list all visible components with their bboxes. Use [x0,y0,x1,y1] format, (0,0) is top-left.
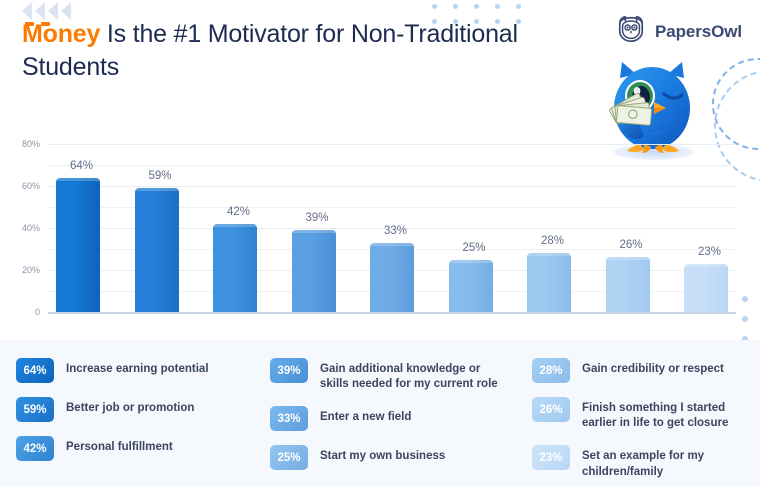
bar-value-label: 59% [149,170,172,182]
bar-value-label: 64% [70,160,93,172]
y-axis-tick-label: 20% [22,265,40,275]
bar-slot: 28% [527,112,571,320]
legend-value-badge: 33% [270,406,308,431]
legend-value-badge: 23% [532,445,570,470]
bar-value-label: 42% [227,206,250,218]
chart-bar[interactable]: 33% [370,243,414,312]
legend-item[interactable]: 23%Set an example for my children/family [532,445,760,479]
chart-bar[interactable]: 28% [527,253,571,312]
bar-value-label: 28% [541,235,564,247]
bar-slot: 25% [449,112,493,320]
legend-item[interactable]: 28%Gain credibility or respect [532,358,760,383]
legend-item-label: Set an example for my children/family [582,445,760,479]
chart-bar[interactable]: 39% [292,230,336,312]
legend-item[interactable]: 26%Finish something I started earlier in… [532,397,760,431]
chart-bar[interactable]: 59% [135,188,179,312]
bar-value-label: 23% [698,246,721,258]
legend-value-badge: 64% [16,358,54,383]
y-axis-tick-label: 80% [22,139,40,149]
legend-column: 64%Increase earning potential59%Better j… [0,358,262,487]
chart-legend: 64%Increase earning potential59%Better j… [0,340,760,487]
chart-plot-area: 020%40%60%80% 64%59%42%39%33%25%28%26%23… [48,112,736,320]
bar-slot: 42% [213,112,257,320]
legend-value-badge: 39% [270,358,308,383]
chart-bar[interactable]: 64% [56,178,100,312]
bar-value-label: 26% [620,239,643,251]
chart-bar[interactable]: 23% [684,264,728,312]
bar-slot: 64% [56,112,100,320]
legend-column: 39%Gain additional knowledge or skills n… [262,358,524,487]
bar-value-label: 39% [306,212,329,224]
y-axis-tick-label: 0 [35,307,40,317]
bar-slot: 59% [135,112,179,320]
bar-slot: 26% [606,112,650,320]
y-axis-tick-label: 60% [22,181,40,191]
bar-slot: 23% [684,112,728,320]
legend-value-badge: 42% [16,436,54,461]
chart-bar[interactable]: 26% [606,257,650,312]
legend-column: 28%Gain credibility or respect26%Finish … [524,358,760,487]
bar-slot: 33% [370,112,414,320]
bar-chart: 020%40%60%80% 64%59%42%39%33%25%28%26%23… [0,104,760,332]
legend-item[interactable]: 42%Personal fulfillment [16,436,262,461]
legend-item[interactable]: 25%Start my own business [270,445,524,470]
bar-value-label: 33% [384,225,407,237]
legend-item-label: Gain additional knowledge or skills need… [320,358,506,392]
legend-item-label: Finish something I started earlier in li… [582,397,760,431]
page-header: Money Is the #1 Motivator for Non-Tradit… [22,18,602,85]
bar-value-label: 25% [463,242,486,254]
infographic-page: Money Is the #1 Motivator for Non-Tradit… [0,0,760,487]
chart-bar[interactable]: 42% [213,224,257,312]
legend-value-badge: 26% [532,397,570,422]
papersowl-owl-logo-icon [616,14,646,49]
brand-logo[interactable]: PapersOwl [616,14,742,49]
title-highlight: Money [22,20,100,48]
legend-item[interactable]: 59%Better job or promotion [16,397,262,422]
brand-name: PapersOwl [655,22,742,42]
chart-bar[interactable]: 25% [449,260,493,313]
legend-value-badge: 59% [16,397,54,422]
legend-value-badge: 25% [270,445,308,470]
legend-item-label: Increase earning potential [66,358,209,377]
legend-item[interactable]: 64%Increase earning potential [16,358,262,383]
legend-item[interactable]: 33%Enter a new field [270,406,524,431]
legend-value-badge: 28% [532,358,570,383]
bar-slot: 39% [292,112,336,320]
chart-bars: 64%59%42%39%33%25%28%26%23% [56,112,728,320]
legend-item-label: Personal fulfillment [66,436,173,455]
legend-item-label: Enter a new field [320,406,411,425]
legend-item-label: Start my own business [320,445,445,464]
legend-item-label: Gain credibility or respect [582,358,724,377]
legend-item[interactable]: 39%Gain additional knowledge or skills n… [270,358,524,392]
legend-item-label: Better job or promotion [66,397,194,416]
y-axis-tick-label: 40% [22,223,40,233]
page-title: Money Is the #1 Motivator for Non-Tradit… [22,18,602,85]
